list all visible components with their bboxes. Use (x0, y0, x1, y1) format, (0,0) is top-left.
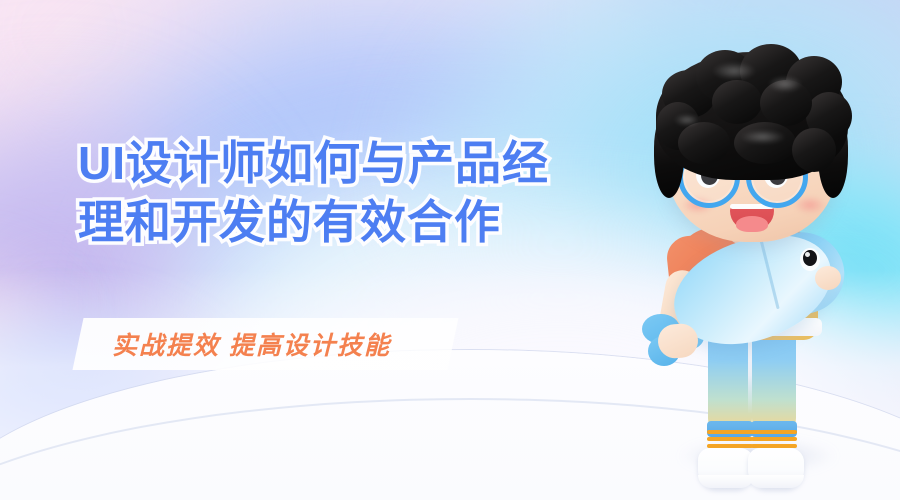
hair-curl (678, 122, 730, 164)
mascot-shoe-stripe (707, 430, 753, 434)
mascot-shoe-stripe (751, 430, 797, 434)
page-title-line-1: UI设计师如何与产品经 (78, 140, 598, 186)
subtitle-text: 实战提效 提高设计技能 (78, 326, 425, 362)
mascot-hand-left (657, 323, 699, 360)
hair-curl (792, 128, 836, 172)
mascot-ankle-cuff-left (707, 421, 753, 437)
mascot-shoe-sole-left (698, 475, 754, 488)
mascot-shoe-stripe (707, 437, 753, 441)
mascot-ankle-cuff-right (751, 421, 797, 437)
hair-highlight (674, 114, 700, 126)
fish-mouth (815, 266, 841, 290)
mascot-shoe-sole-right (748, 475, 804, 488)
course-promo-banner: UI设计师如何与产品经 理和开发的有效合作 实战提效 提高设计技能 (0, 0, 900, 500)
hair-highlight (740, 130, 786, 144)
mascot-illustration (600, 18, 900, 500)
subtitle-banner: 实战提效 提高设计技能 (78, 318, 425, 370)
mascot-shoe-stripe (751, 437, 797, 441)
hair-curl (712, 80, 762, 124)
hair-highlight (712, 62, 756, 80)
hair-highlight (768, 76, 802, 92)
headline-block: UI设计师如何与产品经 理和开发的有效合作 (78, 140, 598, 245)
mascot-tongue (736, 216, 768, 232)
page-title-line-2: 理和开发的有效合作 (78, 199, 598, 245)
fish-eye-glint (805, 252, 810, 257)
